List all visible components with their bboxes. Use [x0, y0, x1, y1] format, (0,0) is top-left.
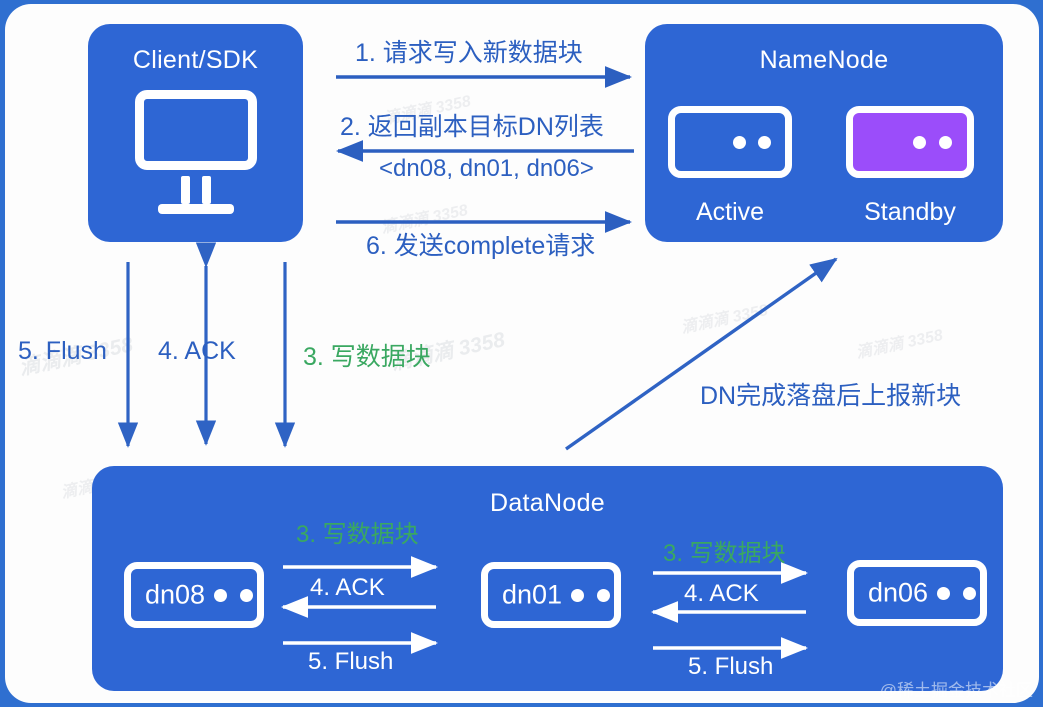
label-pipeline-left-ack: 4. ACK: [310, 574, 385, 602]
monitor-icon: [135, 90, 257, 214]
dn08-label: dn08: [145, 580, 205, 611]
namenode-active-caption: Active: [668, 198, 792, 227]
namenode-title: NameNode: [645, 46, 1003, 75]
label-step2-dnlist: <dn08, dn01, dn06>: [379, 155, 594, 183]
label-step2: 2. 返回副本目标DN列表: [340, 107, 604, 143]
label-step6: 6. 发送complete请求: [366, 226, 595, 262]
datanode-chip-dn08[interactable]: dn08: [124, 562, 264, 628]
label-step5-vertical: 5. Flush: [18, 337, 107, 366]
client-title: Client/SDK: [88, 46, 303, 75]
dn06-label: dn06: [868, 578, 928, 609]
dn01-label: dn01: [502, 580, 562, 611]
label-pipeline-left-flush: 5. Flush: [308, 648, 393, 676]
label-pipeline-right-flush: 5. Flush: [688, 653, 773, 681]
diagram-canvas: 滴滴滴 3358 滴滴滴 3358 滴滴滴 3358 滴滴滴 3358 滴滴滴 …: [0, 0, 1043, 707]
label-dn-report: DN完成落盘后上报新块: [700, 376, 961, 412]
label-pipeline-right-ack: 4. ACK: [684, 580, 759, 608]
datanode-chip-dn06[interactable]: dn06: [847, 560, 987, 626]
corner-watermark: @稀土掘金技术社区: [880, 676, 1033, 701]
label-pipeline-left-write: 3. 写数据块: [296, 514, 419, 549]
label-step3-vertical: 3. 写数据块: [303, 337, 431, 373]
label-step4-vertical: 4. ACK: [158, 337, 236, 366]
namenode-active-chip[interactable]: [668, 106, 792, 178]
namenode-standby-chip[interactable]: [846, 106, 974, 178]
datanode-chip-dn01[interactable]: dn01: [481, 562, 621, 628]
label-step1: 1. 请求写入新数据块: [355, 33, 583, 69]
label-pipeline-right-write: 3. 写数据块: [663, 533, 786, 568]
datanode-title: DataNode: [92, 489, 1003, 518]
namenode-standby-caption: Standby: [846, 198, 974, 227]
